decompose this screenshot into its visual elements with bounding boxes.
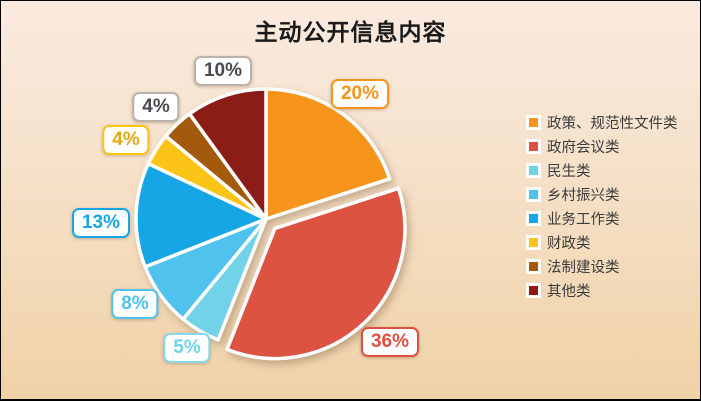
legend-label-4: 业务工作类: [547, 208, 620, 229]
pie-svg: [1, 1, 521, 399]
legend-label-5: 财政类: [547, 232, 591, 253]
legend-item-1[interactable]: 政府会议类: [525, 135, 697, 158]
slice-value-label-6: 4%: [132, 92, 179, 122]
legend-item-7[interactable]: 其他类: [525, 279, 697, 302]
legend-item-3[interactable]: 乡村振兴类: [525, 183, 697, 206]
pie-chart-figure: 主动公开信息内容 20% 36% 5% 8% 13% 4% 4% 10% 政策、…: [1, 1, 700, 399]
legend-item-6[interactable]: 法制建设类: [525, 255, 697, 278]
legend-swatch-icon-2: [529, 166, 538, 175]
legend: 政策、规范性文件类 政府会议类 民生类 乡村振兴类 业务工作类 财政类 法制建设…: [525, 111, 697, 303]
legend-label-3: 乡村振兴类: [547, 184, 620, 205]
legend-swatch-icon-4: [529, 214, 538, 223]
pie-slice-group: [136, 89, 405, 358]
legend-swatch-icon-6: [529, 262, 538, 271]
slice-value-label-1: 36%: [361, 327, 419, 357]
slice-value-label-7: 10%: [194, 56, 252, 86]
legend-swatch-icon-3: [529, 190, 538, 199]
legend-item-2[interactable]: 民生类: [525, 159, 697, 182]
legend-swatch-icon-5: [529, 238, 538, 247]
legend-item-4[interactable]: 业务工作类: [525, 207, 697, 230]
legend-label-1: 政府会议类: [547, 136, 620, 157]
legend-label-7: 其他类: [547, 280, 591, 301]
slice-value-label-3: 8%: [111, 289, 158, 319]
legend-item-5[interactable]: 财政类: [525, 231, 697, 254]
pie-plot-area: 20% 36% 5% 8% 13% 4% 4% 10%: [1, 1, 521, 399]
slice-value-label-0: 20%: [331, 79, 389, 109]
legend-swatch-icon-1: [529, 142, 538, 151]
legend-swatch-icon-7: [529, 286, 538, 295]
slice-value-label-2: 5%: [163, 333, 210, 363]
legend-label-6: 法制建设类: [547, 256, 620, 277]
legend-label-2: 民生类: [547, 160, 591, 181]
legend-swatch-icon-0: [529, 118, 538, 127]
legend-label-0: 政策、规范性文件类: [547, 112, 678, 133]
slice-value-label-5: 4%: [102, 125, 149, 155]
slice-value-label-4: 13%: [72, 208, 130, 238]
legend-item-0[interactable]: 政策、规范性文件类: [525, 111, 697, 134]
